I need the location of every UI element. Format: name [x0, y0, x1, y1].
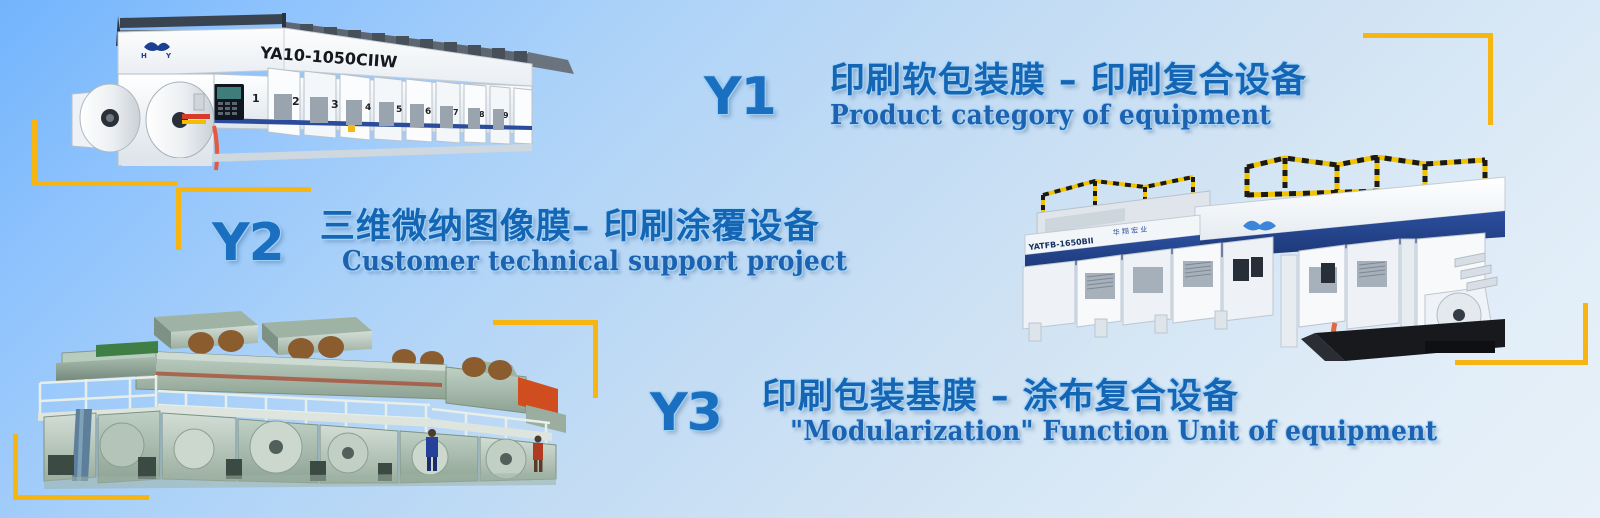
svg-text:2: 2 [292, 95, 300, 108]
text-block-y1: Y1 印刷软包装膜 – 印刷复合设备 Product category of e… [704, 62, 1309, 131]
label-cn-y1: 印刷软包装膜 – 印刷复合设备 [830, 62, 1310, 101]
label-code-y1: Y1 [704, 67, 776, 127]
machine-photo-coating-laminator: YATFB-1650BII 华 翔 宏 业 [985, 155, 1515, 370]
label-cn-y2: 三维微纳图像膜– 印刷涂覆设备 [320, 208, 869, 247]
label-en-y3: "Modularization" Function Unit of equipm… [790, 417, 1437, 447]
machine-photo-coating-line [26, 305, 576, 490]
text-block-y3: Y3 印刷包装基膜 – 涂布复合设备 "Modularization" Func… [650, 378, 1465, 447]
svg-text:1: 1 [252, 92, 260, 105]
text-block-y2: Y2 三维微纳图像膜– 印刷涂覆设备 Customer technical su… [212, 208, 869, 277]
svg-text:6: 6 [425, 107, 431, 117]
label-cn-y3: 印刷包装基膜 – 涂布复合设备 [762, 378, 1465, 417]
svg-text:Y: Y [165, 52, 172, 60]
svg-text:4: 4 [365, 103, 371, 113]
label-en-y2: Customer technical support project [342, 247, 847, 277]
label-code-y2: Y2 [212, 213, 284, 273]
svg-text:3: 3 [331, 98, 339, 111]
label-lines-y1: 印刷软包装膜 – 印刷复合设备 Product category of equi… [830, 62, 1310, 131]
machine-photo-printing-press: H Y YA10-1050CIIW 1 2 [62, 8, 592, 178]
label-en-y1: Product category of equipment [830, 101, 1271, 131]
product-category-banner: H Y YA10-1050CIIW 1 2 [0, 0, 1600, 518]
label-lines-y3: 印刷包装基膜 – 涂布复合设备 "Modularization" Functio… [762, 378, 1465, 447]
label-code-y3: Y3 [650, 383, 722, 443]
svg-text:7: 7 [453, 108, 459, 117]
svg-text:H: H [141, 52, 147, 60]
label-lines-y2: 三维微纳图像膜– 印刷涂覆设备 Customer technical suppo… [320, 208, 869, 277]
svg-text:5: 5 [396, 105, 402, 115]
bracket-top-right [1363, 33, 1493, 125]
